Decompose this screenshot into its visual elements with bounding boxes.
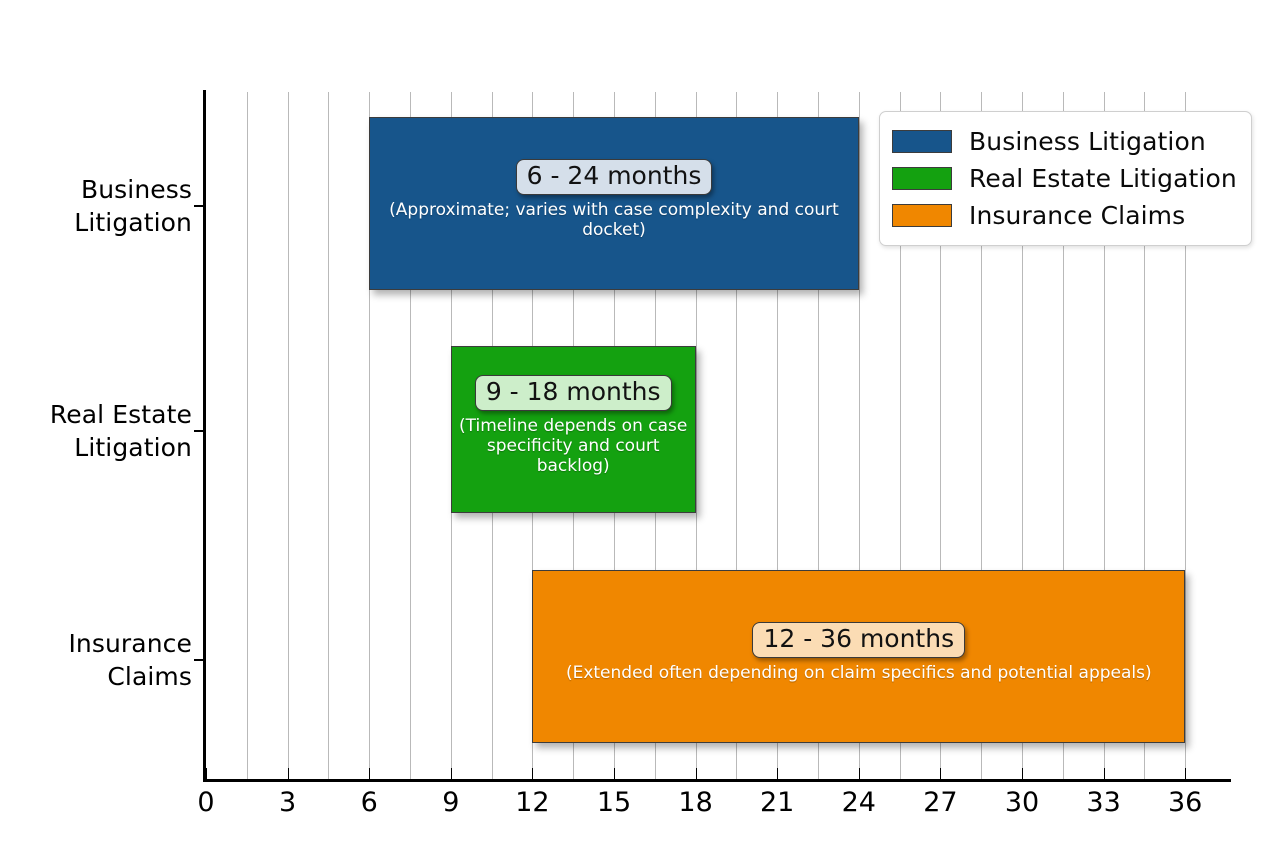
x-axis-tick-label: 15 [574, 787, 654, 818]
bar-real-estate-litigation[interactable]: 9 - 18 months (Timeline depends on case … [451, 346, 696, 513]
x-axis-tick [1022, 768, 1023, 779]
x-axis-tick-label: 33 [1064, 787, 1144, 818]
x-axis-tick-label: 0 [166, 787, 246, 818]
legend-item-business-litigation[interactable]: Business Litigation [892, 123, 1237, 160]
y-axis-label-business-litigation: Business Litigation [74, 173, 192, 239]
x-axis-tick [369, 768, 370, 779]
legend-label-real-estate-litigation: Real Estate Litigation [969, 164, 1237, 193]
x-axis-tick-label: 9 [411, 787, 491, 818]
x-axis-tick-label: 21 [737, 787, 817, 818]
x-axis-tick [777, 768, 778, 779]
y-axis-tick-business-litigation [194, 205, 206, 207]
x-axis-tick [206, 768, 207, 779]
bar-note-real-estate-litigation: (Timeline depends on case specificity an… [452, 416, 695, 476]
gridline [288, 92, 289, 780]
legend-label-insurance-claims: Insurance Claims [969, 201, 1185, 230]
x-axis-tick [614, 768, 615, 779]
gantt-range-chart: Business Litigation Real Estate Litigati… [0, 0, 1264, 848]
x-axis-tick-label: 6 [329, 787, 409, 818]
x-axis-tick [288, 768, 289, 779]
bar-content-real-estate-litigation: 9 - 18 months (Timeline depends on case … [452, 375, 695, 476]
x-axis-tick [696, 768, 697, 779]
legend-label-business-litigation: Business Litigation [969, 127, 1206, 156]
x-axis-tick-label: 12 [492, 787, 572, 818]
legend-item-insurance-claims[interactable]: Insurance Claims [892, 197, 1237, 234]
x-axis-line [203, 779, 1231, 782]
x-axis-tick [451, 768, 452, 779]
bar-value-pill-insurance-claims: 12 - 36 months [752, 622, 965, 658]
legend-item-real-estate-litigation[interactable]: Real Estate Litigation [892, 160, 1237, 197]
x-axis-tick [940, 768, 941, 779]
x-axis-tick-label: 18 [656, 787, 736, 818]
y-axis-label-insurance-claims: Insurance Claims [68, 627, 192, 693]
legend-swatch-insurance-claims [892, 204, 952, 227]
y-axis-line [203, 90, 206, 782]
y-axis-label-real-estate-litigation: Real Estate Litigation [50, 398, 192, 464]
x-axis-tick-label: 36 [1145, 787, 1225, 818]
bar-content-business-litigation: 6 - 24 months (Approximate; varies with … [370, 159, 858, 240]
bar-value-pill-real-estate-litigation: 9 - 18 months [475, 375, 672, 411]
legend: Business Litigation Real Estate Litigati… [879, 111, 1252, 246]
bar-insurance-claims[interactable]: 12 - 36 months (Extended often depending… [532, 570, 1185, 743]
gridline [247, 92, 248, 780]
gridline [328, 92, 329, 780]
x-axis-tick-label: 24 [819, 787, 899, 818]
y-axis-tick-insurance-claims [194, 659, 206, 661]
bar-value-pill-business-litigation: 6 - 24 months [516, 159, 713, 195]
bar-content-insurance-claims: 12 - 36 months (Extended often depending… [533, 622, 1184, 683]
bar-note-insurance-claims: (Extended often depending on claim speci… [566, 663, 1152, 683]
x-axis-tick [1104, 768, 1105, 779]
legend-swatch-real-estate-litigation [892, 167, 952, 190]
bar-note-business-litigation: (Approximate; varies with case complexit… [370, 200, 858, 240]
x-axis-tick [532, 768, 533, 779]
x-axis-tick [859, 768, 860, 779]
x-axis-tick [1185, 768, 1186, 779]
legend-swatch-business-litigation [892, 130, 952, 153]
y-axis-tick-real-estate-litigation [194, 430, 206, 432]
x-axis-tick-label: 30 [982, 787, 1062, 818]
x-axis-tick-label: 27 [900, 787, 980, 818]
bar-business-litigation[interactable]: 6 - 24 months (Approximate; varies with … [369, 117, 859, 290]
x-axis-tick-label: 3 [248, 787, 328, 818]
